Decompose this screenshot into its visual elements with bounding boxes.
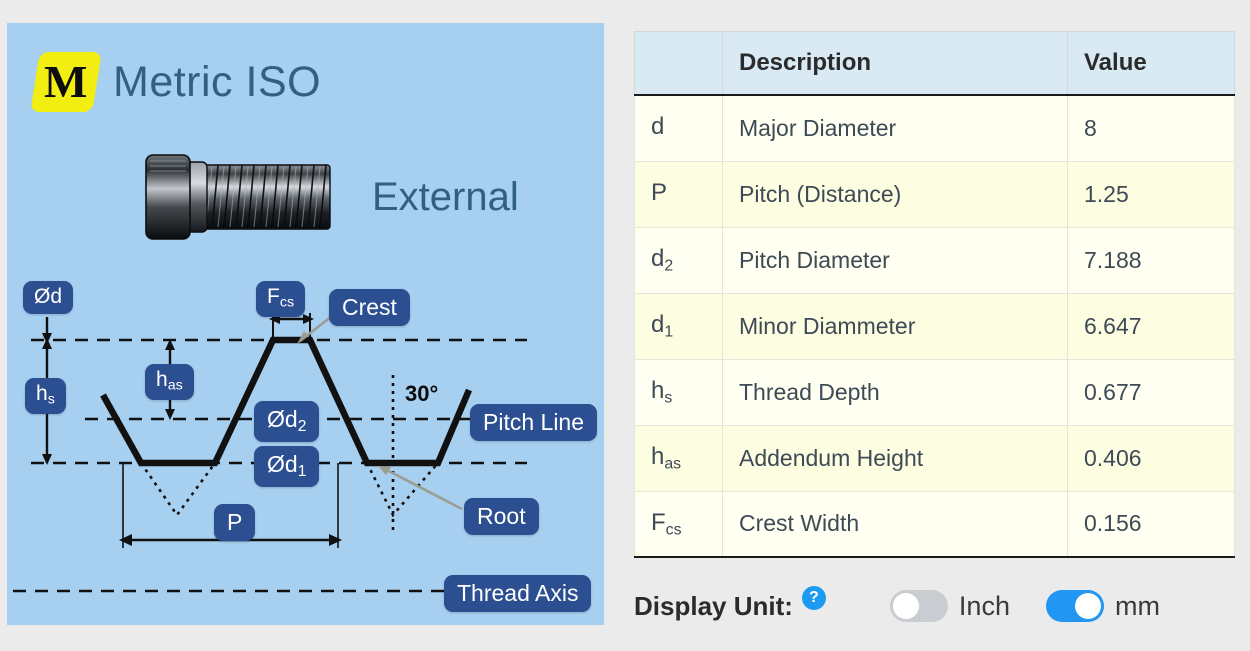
cell-value: 7.188 xyxy=(1068,227,1235,293)
column-header-description: Description xyxy=(723,32,1068,96)
table-row: d Major Diameter 8 xyxy=(635,95,1235,161)
toggle-mm-knob xyxy=(1075,593,1101,619)
inch-toggle-group: Inch xyxy=(890,590,1010,622)
question-mark-icon[interactable]: ? xyxy=(802,586,826,610)
toggle-mm[interactable] xyxy=(1046,590,1104,622)
cell-symbol: P xyxy=(635,161,723,227)
label-crest-width: Fcs xyxy=(256,281,305,317)
help-glyph: ? xyxy=(809,590,819,606)
cell-symbol: has xyxy=(635,425,723,491)
thread-diagram-panel: M Metric ISO xyxy=(7,23,604,625)
cell-symbol: Fcs xyxy=(635,491,723,557)
cell-description: Crest Width xyxy=(723,491,1068,557)
label-pitch-diameter: Ød2 xyxy=(254,401,319,442)
table-row: hs Thread Depth 0.677 xyxy=(635,359,1235,425)
cell-symbol: d2 xyxy=(635,227,723,293)
cell-value: 8 xyxy=(1068,95,1235,161)
cell-description: Pitch Diameter xyxy=(723,227,1068,293)
table-header-row: Description Value xyxy=(635,32,1235,96)
label-major-diameter: Ød xyxy=(23,281,73,314)
cell-value: 6.647 xyxy=(1068,293,1235,359)
table-row: d2 Pitch Diameter 7.188 xyxy=(635,227,1235,293)
toggle-mm-label: mm xyxy=(1115,591,1160,622)
cell-description: Addendum Height xyxy=(723,425,1068,491)
cell-value: 0.156 xyxy=(1068,491,1235,557)
toggle-inch[interactable] xyxy=(890,590,948,622)
cell-symbol: d1 xyxy=(635,293,723,359)
toggle-inch-knob xyxy=(893,593,919,619)
mm-toggle-group: mm xyxy=(1046,590,1160,622)
cell-description: Thread Depth xyxy=(723,359,1068,425)
label-thread-angle: 30° xyxy=(405,381,438,407)
label-crest: Crest xyxy=(329,289,410,326)
label-addendum-height: has xyxy=(145,364,194,400)
cell-description: Major Diameter xyxy=(723,95,1068,161)
label-root: Root xyxy=(464,498,539,535)
table-row: has Addendum Height 0.406 xyxy=(635,425,1235,491)
table-row: Fcs Crest Width 0.156 xyxy=(635,491,1235,557)
display-unit-controls: Display Unit: ? Inch mm xyxy=(634,584,1160,628)
label-thread-depth: hs xyxy=(25,378,66,414)
label-thread-axis: Thread Axis xyxy=(444,575,591,612)
label-pitch-line: Pitch Line xyxy=(470,404,597,441)
thread-spec-table-container: Description Value d Major Diameter 8 P P… xyxy=(634,31,1234,558)
cell-value: 0.677 xyxy=(1068,359,1235,425)
cell-symbol: hs xyxy=(635,359,723,425)
thread-spec-table: Description Value d Major Diameter 8 P P… xyxy=(634,31,1235,558)
column-header-value: Value xyxy=(1068,32,1235,96)
cell-value: 1.25 xyxy=(1068,161,1235,227)
label-minor-diameter: Ød1 xyxy=(254,446,319,487)
toggle-inch-label: Inch xyxy=(959,591,1010,622)
cell-value: 0.406 xyxy=(1068,425,1235,491)
cell-symbol: d xyxy=(635,95,723,161)
cell-description: Pitch (Distance) xyxy=(723,161,1068,227)
app-root: M Metric ISO xyxy=(0,0,1250,651)
column-header-symbol xyxy=(635,32,723,96)
table-row: P Pitch (Distance) 1.25 xyxy=(635,161,1235,227)
cell-description: Minor Diammeter xyxy=(723,293,1068,359)
table-row: d1 Minor Diammeter 6.647 xyxy=(635,293,1235,359)
label-pitch: P xyxy=(214,504,255,541)
display-unit-label: Display Unit: xyxy=(634,591,793,622)
